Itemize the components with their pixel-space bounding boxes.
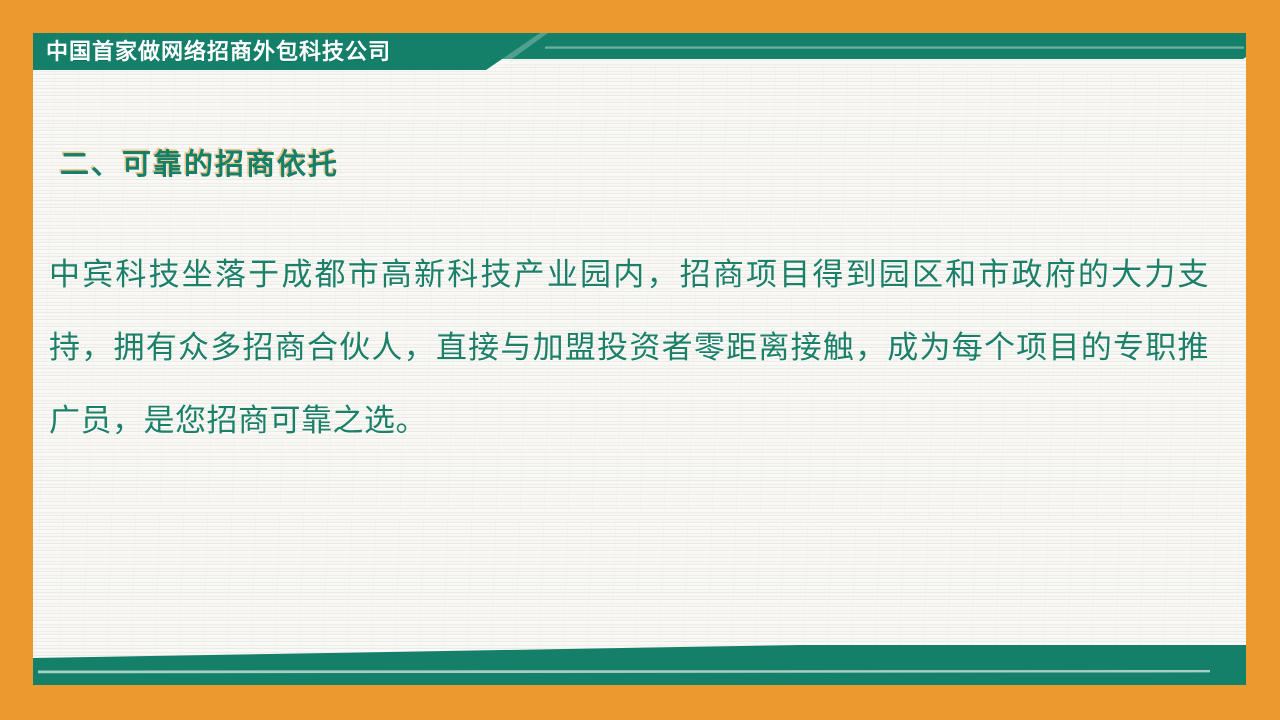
slide-root: 二、可靠的招商依托 中宾科技坐落于成都市高新科技产业园内，招商项目得到园区和市政… (0, 0, 1280, 720)
slide-canvas: 二、可靠的招商依托 中宾科技坐落于成都市高新科技产业园内，招商项目得到园区和市政… (33, 33, 1246, 685)
slide-content: 二、可靠的招商依托 中宾科技坐落于成都市高新科技产业园内，招商项目得到园区和市政… (33, 33, 1246, 685)
body-paragraph: 中宾科技坐落于成都市高新科技产业园内，招商项目得到园区和市政府的大力支持，拥有众… (49, 238, 1209, 457)
section-heading: 二、可靠的招商依托 (60, 141, 339, 183)
